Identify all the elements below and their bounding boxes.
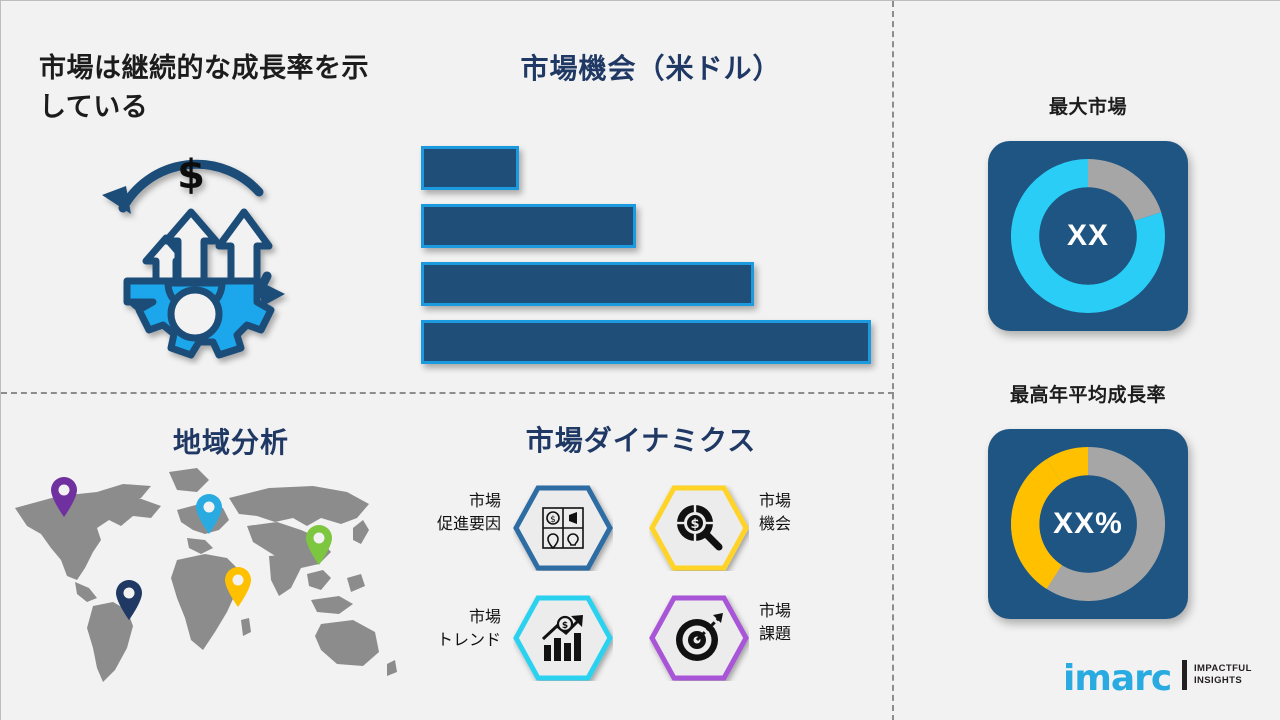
- pin-middle-east: [223, 566, 253, 608]
- pin-north-america: [49, 476, 79, 518]
- label-line-2: 機会: [759, 513, 859, 536]
- bar-3: [421, 262, 754, 306]
- logo-tagline-line-2: INSIGHTS: [1194, 675, 1252, 687]
- label-line-2: 促進要因: [401, 513, 501, 536]
- bar-4: [421, 320, 871, 364]
- logo-divider-bar: [1182, 660, 1187, 690]
- logo-tagline: IMPACTFUL INSIGHTS: [1194, 663, 1252, 687]
- growth-title: 市場は継続的な成長率を示している: [39, 49, 389, 127]
- largest-market-title: 最大市場: [958, 95, 1218, 121]
- largest-market-value: XX: [988, 141, 1188, 331]
- highest-cagr-title: 最高年平均成長率: [958, 383, 1218, 409]
- vertical-divider: [892, 1, 894, 720]
- dynamics-hex-challenges[interactable]: [649, 595, 749, 681]
- bar-2: [421, 204, 636, 248]
- pin-south-america: [114, 579, 144, 621]
- dynamics-label-opportunities: 市場 機会: [759, 490, 859, 536]
- bar-1: [421, 146, 519, 190]
- logo-wordmark: imarc: [1063, 658, 1171, 699]
- svg-text:$: $: [690, 517, 699, 532]
- svg-text:$: $: [177, 152, 205, 198]
- dynamics-hex-trends[interactable]: $: [513, 595, 613, 681]
- svg-text:$: $: [550, 515, 556, 525]
- label-line-1: 市場: [759, 490, 859, 513]
- bar-chart-title: 市場機会（米ドル）: [421, 51, 881, 87]
- label-line-1: 市場: [401, 606, 501, 629]
- infographic-slide: 市場は継続的な成長率を示している $: [0, 0, 1280, 720]
- pin-europe: [194, 493, 224, 535]
- pin-asia: [304, 524, 334, 566]
- largest-market-card: XX: [988, 141, 1188, 331]
- dynamics-title: 市場ダイナミクス: [401, 423, 881, 459]
- highest-cagr-card: XX%: [988, 429, 1188, 619]
- world-map: [1, 456, 401, 696]
- growth-gear-arrows-icon: $: [71, 126, 311, 366]
- label-line-2: 課題: [759, 623, 859, 646]
- bar-chart: [421, 146, 881, 356]
- horizontal-divider: [1, 392, 894, 394]
- label-line-2: トレンド: [401, 629, 501, 652]
- dynamics-hex-drivers[interactable]: $: [513, 485, 613, 571]
- svg-text:$: $: [562, 621, 568, 631]
- imarc-logo[interactable]: imarc IMPACTFUL INSIGHTS: [1063, 654, 1263, 700]
- dynamics-label-trends: 市場 トレンド: [401, 606, 501, 652]
- dynamics-label-challenges: 市場 課題: [759, 600, 859, 646]
- dynamics-label-drivers: 市場 促進要因: [401, 490, 501, 536]
- logo-tagline-line-1: IMPACTFUL: [1194, 663, 1252, 675]
- highest-cagr-value: XX%: [988, 429, 1188, 619]
- label-line-1: 市場: [401, 490, 501, 513]
- label-line-1: 市場: [759, 600, 859, 623]
- dynamics-hex-opportunities[interactable]: $: [649, 485, 749, 571]
